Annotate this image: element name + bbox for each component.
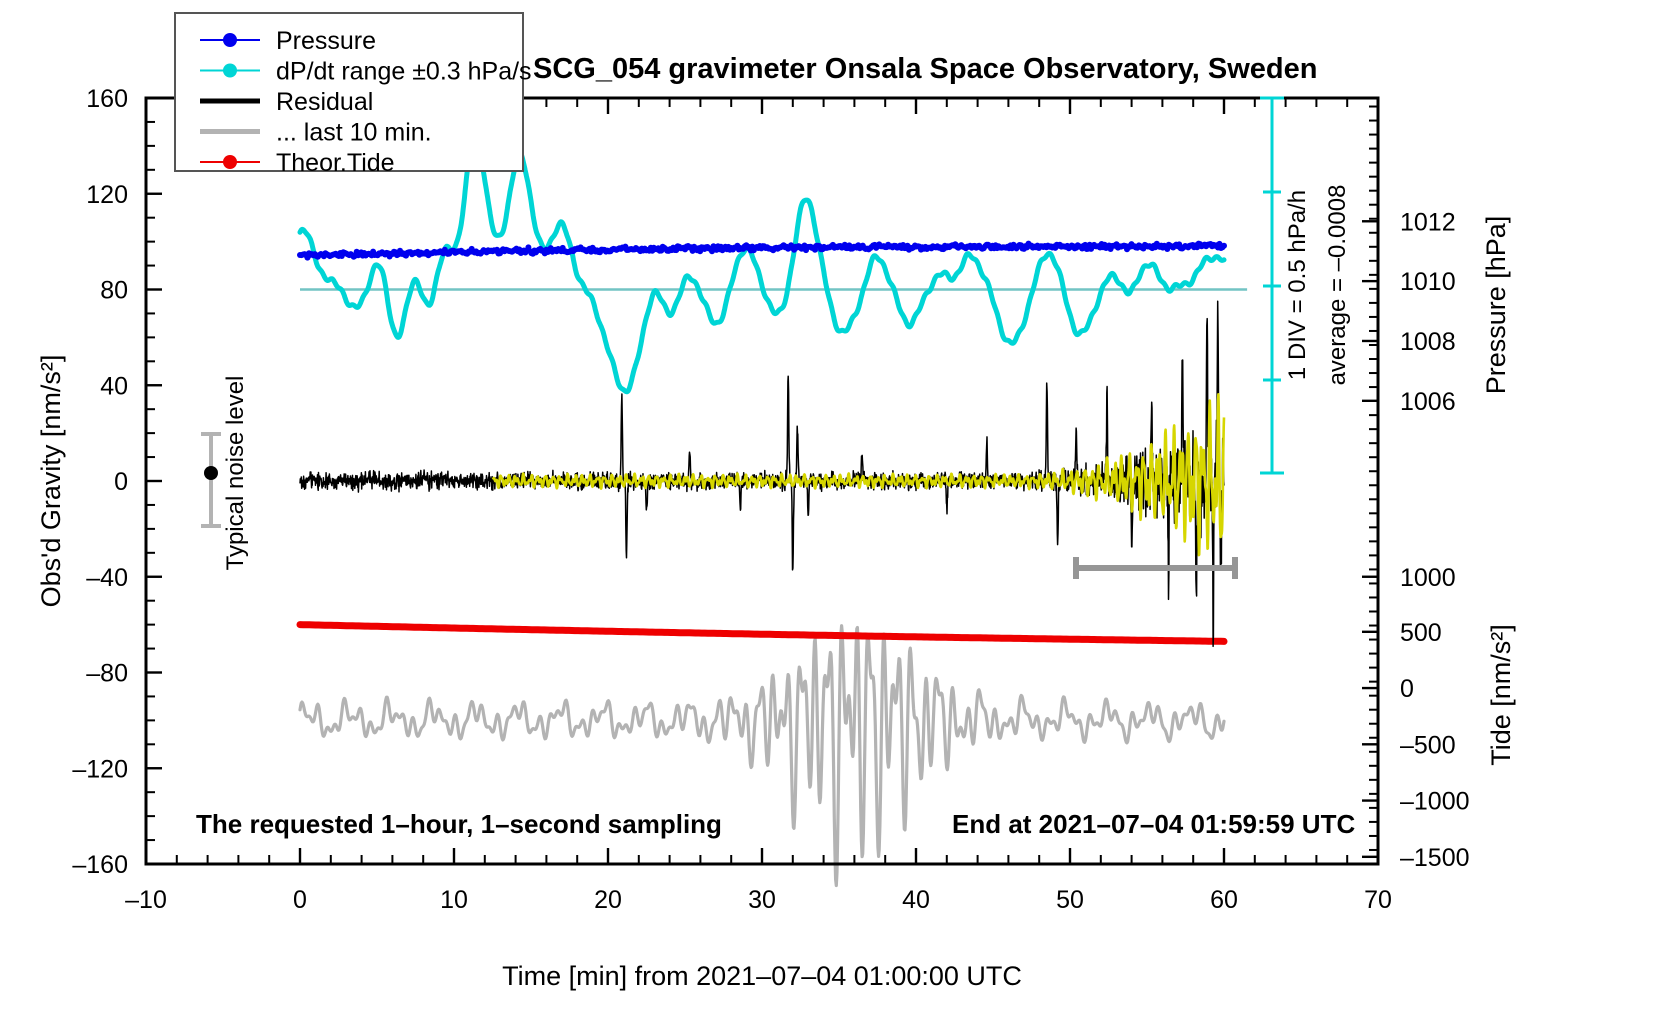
tide-tick-label: –1000	[1400, 788, 1470, 816]
pressure-tick-label: 1008	[1400, 328, 1456, 356]
y-tick-label: 0	[114, 468, 128, 496]
gravimeter-chart: –10010203040506070–160–120–80–4004080120…	[0, 0, 1676, 1020]
pressure-tick-label: 1006	[1400, 388, 1456, 416]
x-tick-label: 40	[902, 886, 930, 914]
y-tick-label: –160	[72, 851, 128, 879]
y-tick-label: –80	[86, 660, 128, 688]
dpdt-scale-bar	[1260, 98, 1284, 473]
x-tick-label: 30	[748, 886, 776, 914]
legend-item-label: Pressure	[276, 27, 376, 55]
tide-tick-label: 0	[1400, 675, 1414, 703]
tide-tick-label: –500	[1400, 731, 1456, 759]
tide-tick-label: 500	[1400, 619, 1442, 647]
y-tick-label: –120	[72, 755, 128, 783]
legend-marker-0	[223, 33, 237, 47]
legend-marker-4	[223, 155, 237, 169]
y-tick-label: 160	[86, 85, 128, 113]
tide-tick-label: –1500	[1400, 844, 1470, 872]
footer-right-note: End at 2021–07–04 01:59:59 UTC	[952, 809, 1355, 839]
x-tick-label: 10	[440, 886, 468, 914]
pressure-tick-label: 1010	[1400, 268, 1456, 296]
x-tick-label: 0	[293, 886, 307, 914]
theoretical-tide-series-line	[300, 625, 1224, 642]
y-axis-title: Obs'd Gravity [nm/s²]	[36, 355, 66, 608]
x-tick-label: –10	[125, 886, 167, 914]
typical-noise-level-marker	[201, 434, 221, 526]
gravimeter-plot-page: –10010203040506070–160–120–80–4004080120…	[0, 0, 1676, 1020]
x-axis-title: Time [min] from 2021–07–04 01:00:00 UTC	[502, 961, 1022, 991]
typical-noise-level-label: Typical noise level	[222, 376, 249, 571]
legend-item-label: Theor.Tide	[276, 149, 395, 177]
axis-tick-labels-layer: –10010203040506070–160–120–80–4004080120…	[72, 85, 1469, 914]
pressure-tick-label: 1000	[1400, 564, 1456, 592]
x-tick-label: 60	[1210, 886, 1238, 914]
legend-item-label: dP/dt range ±0.3 hPa/s	[276, 58, 532, 86]
y-tick-label: 80	[100, 277, 128, 305]
last-10-min-series-line	[300, 626, 1224, 886]
pressure-tick-label: 1012	[1400, 208, 1456, 236]
page-title: SCG_054 gravimeter Onsala Space Observat…	[533, 53, 1317, 85]
x-tick-label: 50	[1056, 886, 1084, 914]
footer-left-note: The requested 1–hour, 1–second sampling	[196, 809, 722, 839]
data-series-layer	[297, 133, 1247, 886]
y-tick-label: 40	[100, 372, 128, 400]
y-tick-label: –40	[86, 564, 128, 592]
pressure-series-dots	[297, 241, 1227, 261]
y-tick-label: 120	[86, 181, 128, 209]
average-label: average = –0.0008	[1324, 185, 1351, 386]
pressure-axis-title: Pressure [hPa]	[1481, 216, 1511, 395]
tide-axis-title: Tide [nm/s²]	[1486, 624, 1516, 766]
legend: PressuredP/dt range ±0.3 hPa/sResidual..…	[175, 13, 532, 177]
x-tick-label: 20	[594, 886, 622, 914]
legend-marker-1	[223, 64, 237, 78]
legend-item-label: ... last 10 min.	[276, 119, 432, 147]
legend-item-label: Residual	[276, 88, 373, 116]
last-10-min-span-bar	[1076, 557, 1235, 579]
x-tick-label: 70	[1364, 886, 1392, 914]
div-scale-label: 1 DIV = 0.5 hPa/h	[1284, 190, 1311, 380]
